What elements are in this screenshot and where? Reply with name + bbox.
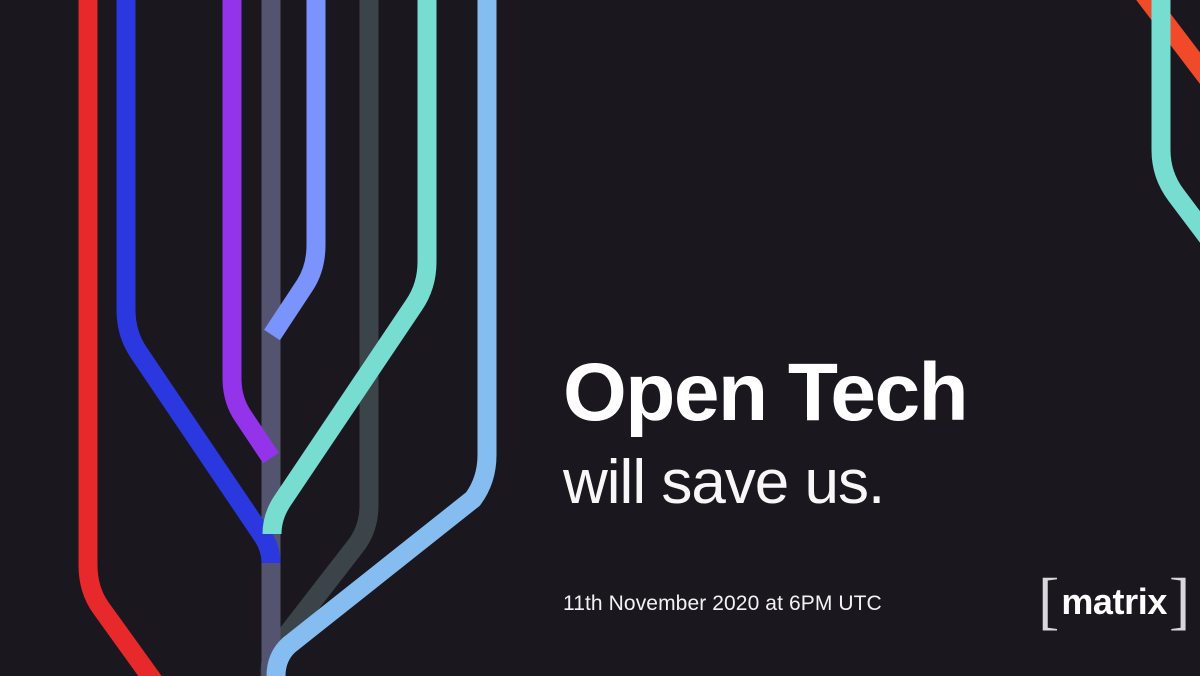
poster-canvas: Open Tech will save us. 11th November 20… bbox=[0, 0, 1200, 676]
matrix-logo: [ matrix ] bbox=[1038, 570, 1190, 632]
bracket-left-icon: [ bbox=[1038, 571, 1059, 632]
matrix-logo-wordmark: matrix bbox=[1061, 584, 1167, 620]
page-subtitle: will save us. bbox=[563, 452, 884, 514]
event-datetime: 11th November 2020 at 6PM UTC bbox=[563, 592, 882, 616]
text-content-block: Open Tech will save us. 11th November 20… bbox=[563, 0, 1200, 676]
line-blue bbox=[126, 0, 271, 563]
bracket-right-icon: ] bbox=[1169, 571, 1190, 632]
page-title: Open Tech bbox=[563, 352, 967, 434]
line-teal bbox=[272, 0, 427, 534]
